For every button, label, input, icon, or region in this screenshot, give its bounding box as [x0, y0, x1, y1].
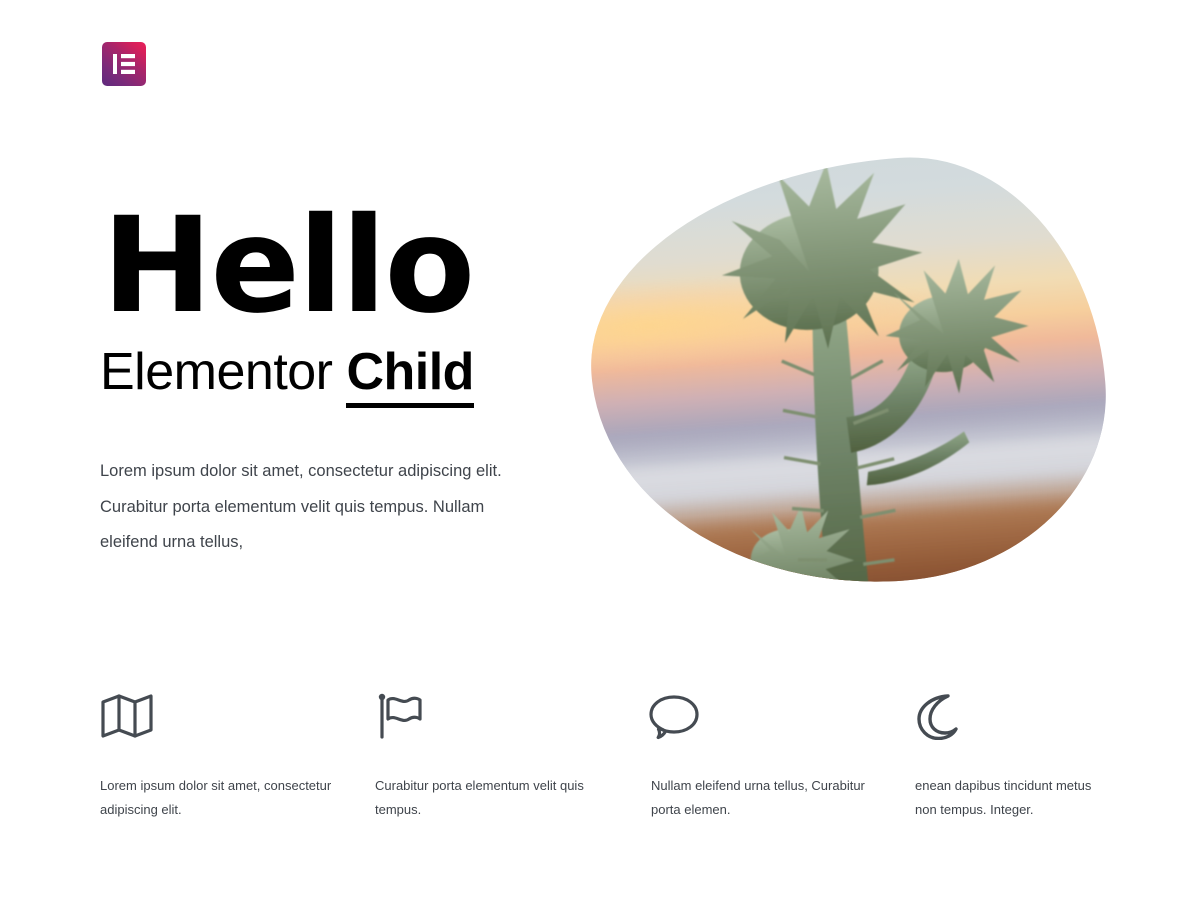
feature-item: Curabitur porta elementum velit quis tem… — [375, 688, 647, 822]
page-root: Hello Elementor Child Lorem ipsum dolor … — [0, 0, 1200, 900]
elementor-logo[interactable] — [102, 42, 146, 86]
elementor-e-icon — [113, 54, 135, 74]
feature-item: Lorem ipsum dolor sit amet, consectetur … — [100, 688, 375, 822]
feature-text: Lorem ipsum dolor sit amet, consectetur … — [100, 774, 335, 822]
moon-icon — [915, 688, 1100, 744]
hero-image — [592, 162, 1104, 584]
feature-text: enean dapibus tincidunt metus non tempus… — [915, 774, 1100, 822]
hero-text-column: Hello Elementor Child Lorem ipsum dolor … — [100, 200, 570, 561]
feature-item: Nullam eleifend urna tellus, Curabitur p… — [647, 688, 915, 822]
map-icon — [100, 688, 335, 744]
hero-image-blob-mask — [578, 145, 1118, 602]
page-title: Hello — [102, 200, 570, 332]
hero-subtitle-regular: Elementor — [100, 343, 346, 401]
feature-row: Lorem ipsum dolor sit amet, consectetur … — [100, 688, 1100, 822]
speech-bubble-icon — [647, 688, 875, 744]
hero-subtitle: Elementor Child — [100, 344, 570, 408]
hero-subtitle-emphasis: Child — [346, 344, 473, 408]
feature-text: Nullam eleifend urna tellus, Curabitur p… — [647, 774, 875, 822]
feature-item: enean dapibus tincidunt metus non tempus… — [915, 688, 1100, 822]
cactus-silhouette — [578, 145, 1118, 602]
hero-image-photo — [578, 145, 1118, 602]
flag-icon — [375, 688, 607, 744]
hero-body-text: Lorem ipsum dolor sit amet, consectetur … — [100, 454, 530, 560]
feature-text: Curabitur porta elementum velit quis tem… — [375, 774, 607, 822]
